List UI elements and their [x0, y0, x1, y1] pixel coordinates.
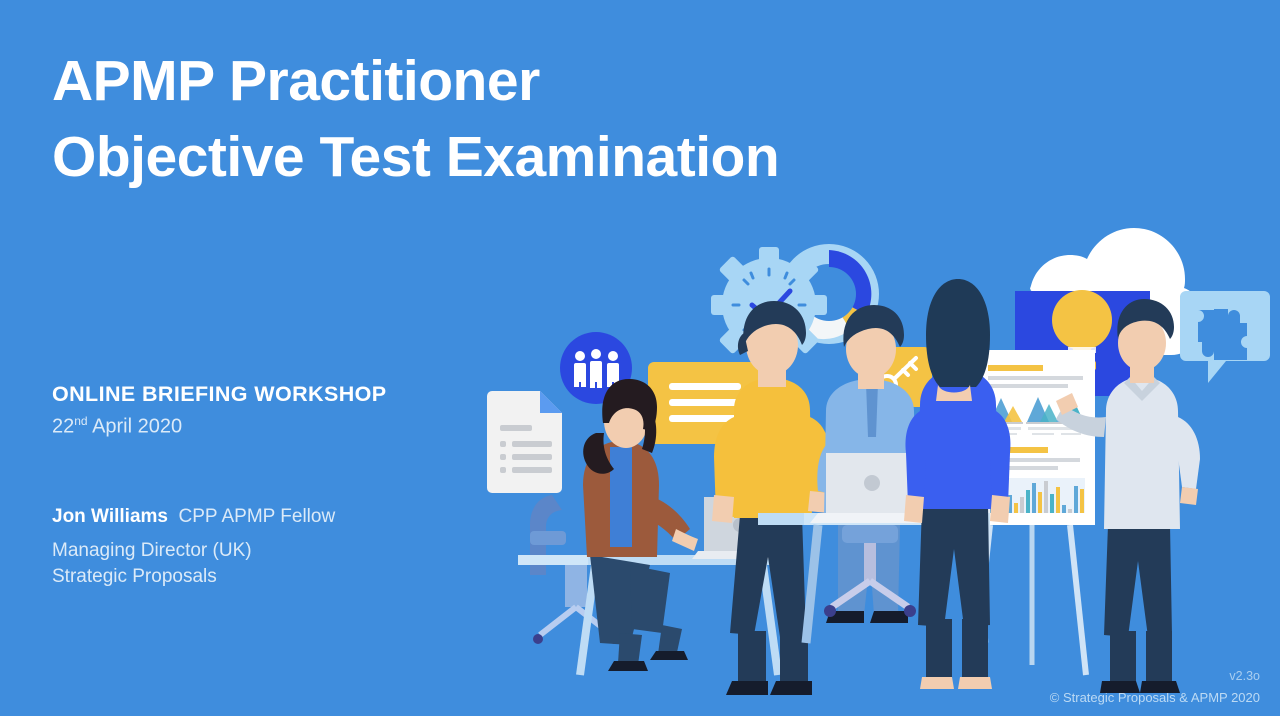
- page-title: APMP Practitioner Objective Test Examina…: [52, 44, 912, 196]
- presenter-company: Strategic Proposals: [52, 566, 217, 588]
- date-rest: April 2020: [88, 416, 183, 438]
- date-day: 22: [52, 416, 74, 438]
- title-line-2: Objective Test Examination: [52, 120, 912, 196]
- business-team-office-illustration: [470, 195, 1280, 716]
- date-ordinal: nd: [74, 414, 87, 428]
- standing-woman-blue-top: [904, 279, 1010, 689]
- office-chair-centre: [824, 525, 916, 617]
- document-icon: [487, 391, 562, 493]
- puzzle-bubble-icon: [1180, 291, 1270, 383]
- workshop-kicker: ONLINE BRIEFING WORKSHOP: [52, 382, 387, 407]
- event-date: 22nd April 2020: [52, 414, 182, 439]
- presenter-name: Jon Williams: [52, 506, 168, 527]
- presenter-line: Jon Williams CPP APMP Fellow: [52, 506, 335, 528]
- title-line-1: APMP Practitioner: [52, 44, 912, 120]
- presenter-credentials: CPP APMP Fellow: [179, 506, 336, 527]
- presenter-role: Managing Director (UK): [52, 540, 252, 562]
- presentation-slide: APMP Practitioner Objective Test Examina…: [0, 0, 1280, 716]
